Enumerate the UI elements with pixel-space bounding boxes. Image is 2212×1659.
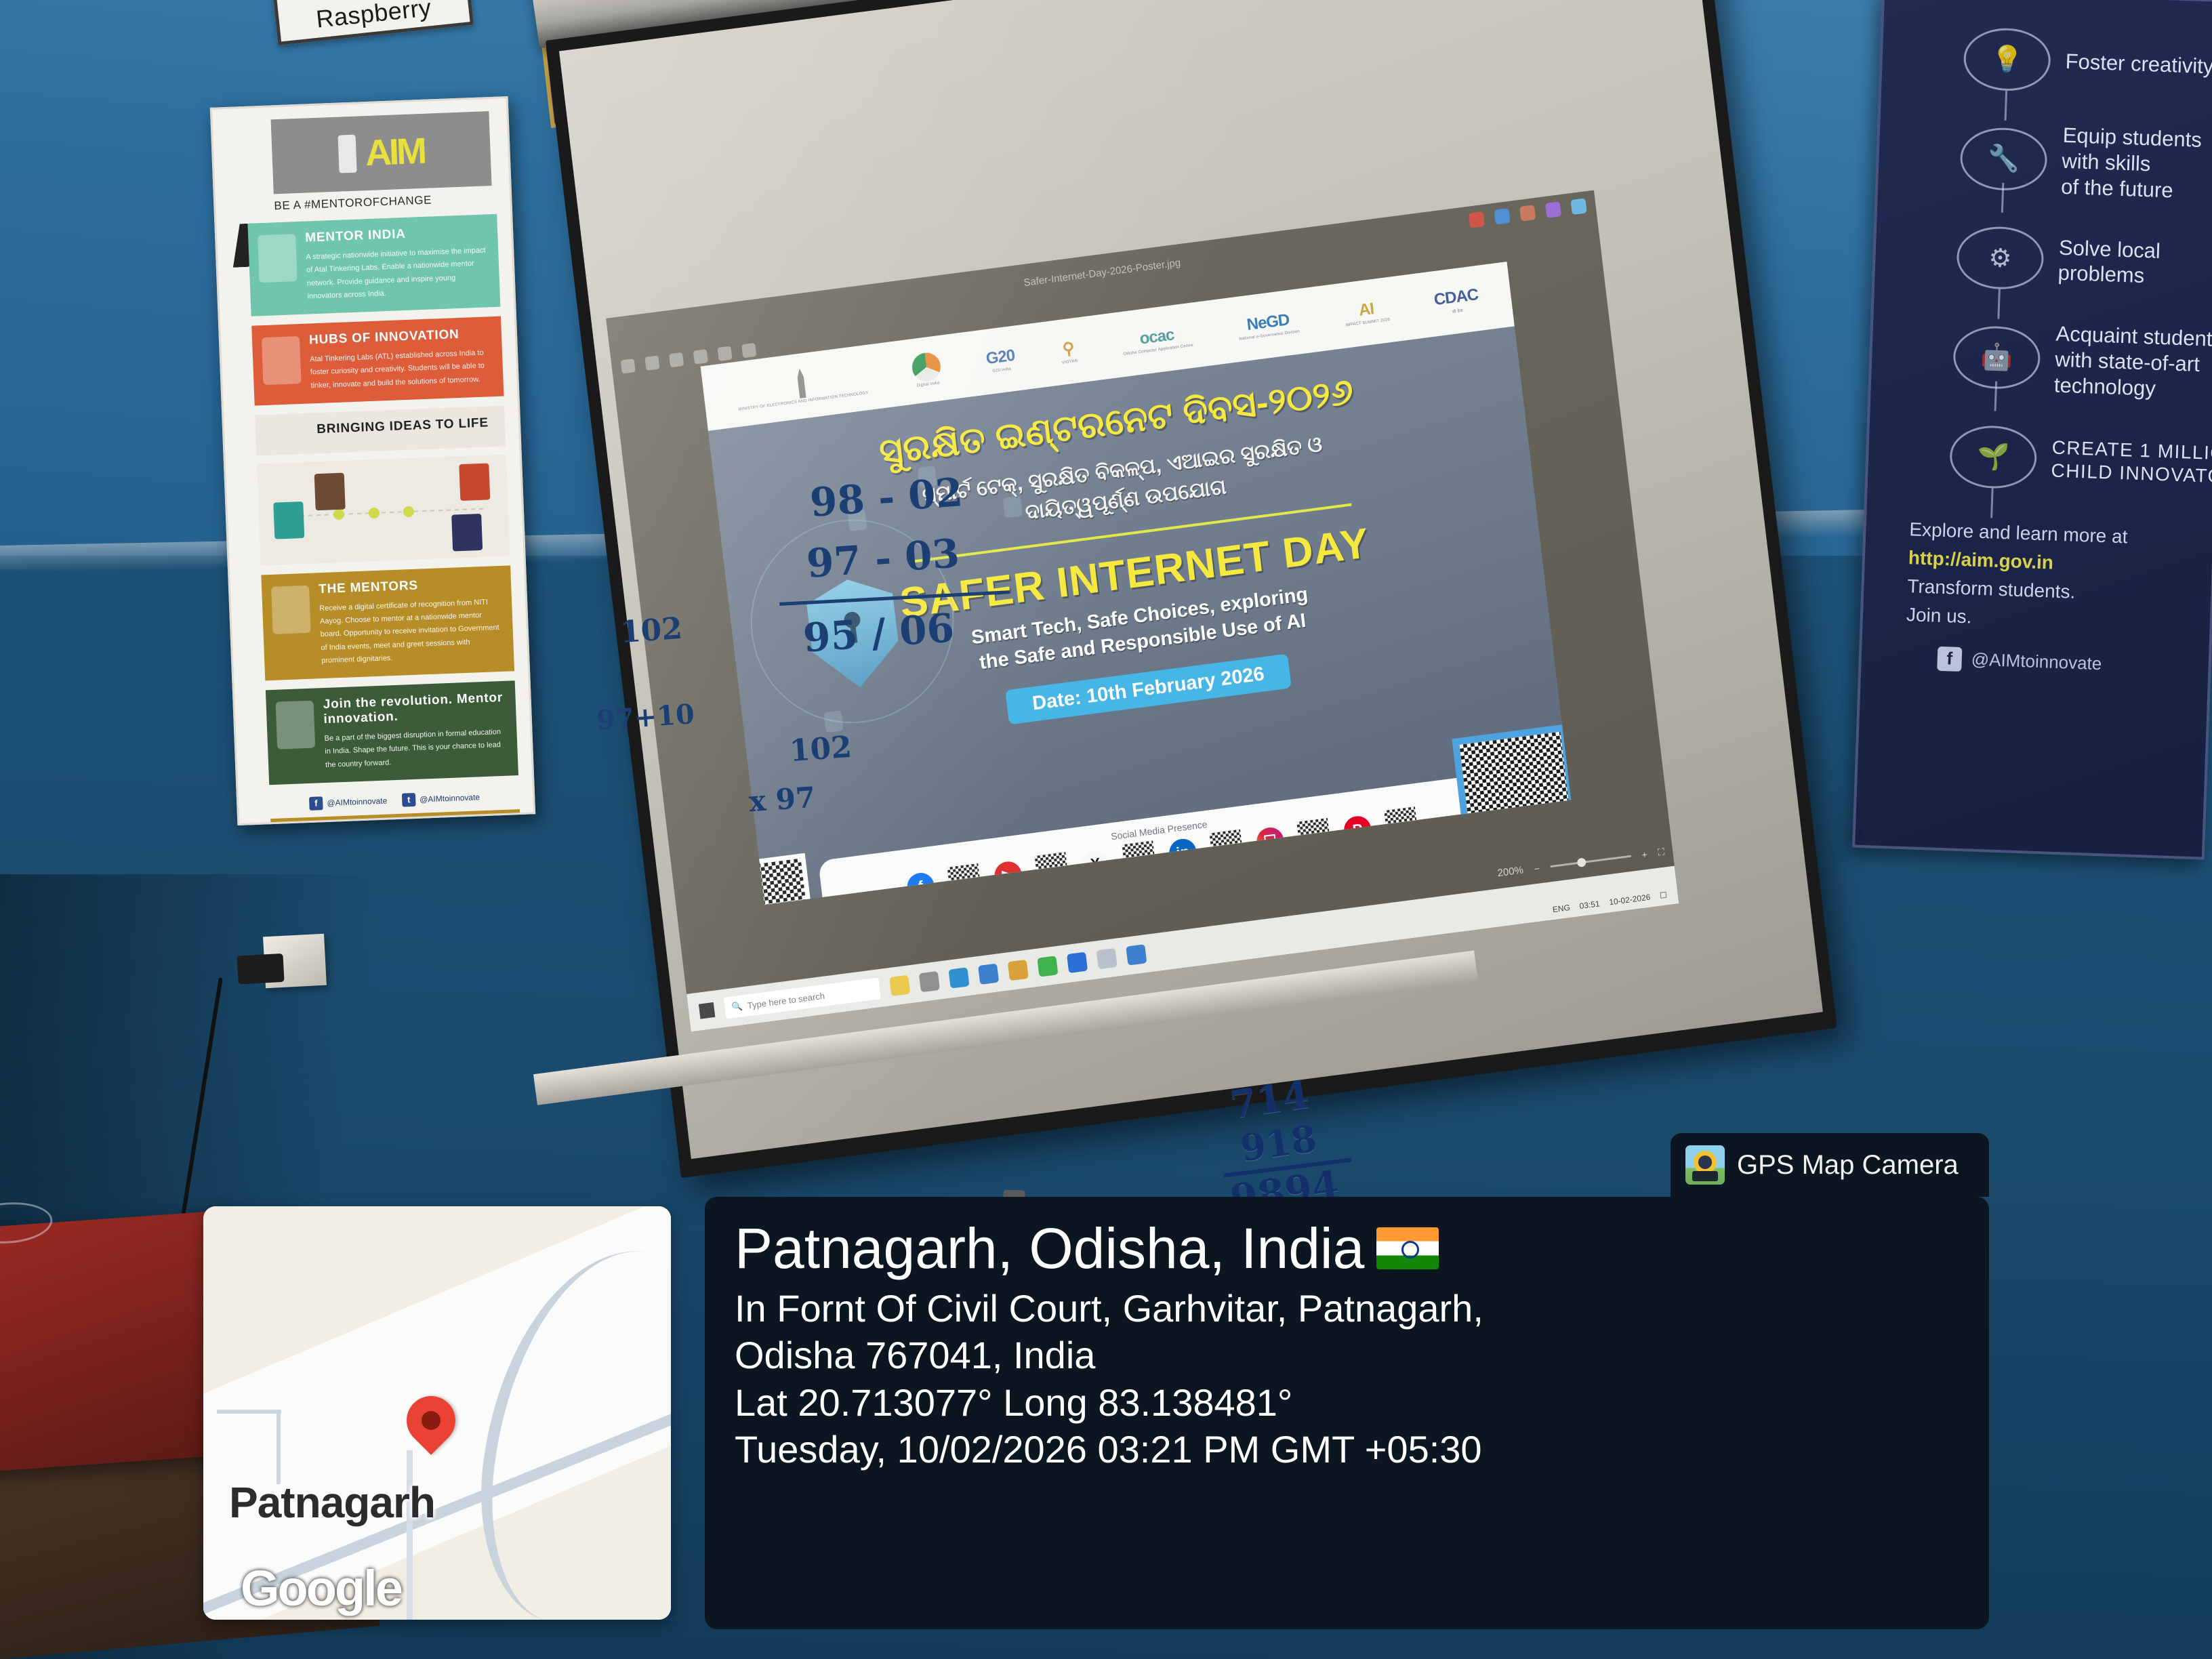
- section-title: MENTOR INDIA: [305, 224, 486, 245]
- facebook-icon: f: [309, 796, 323, 811]
- delete-icon[interactable]: [693, 349, 708, 364]
- people-icon: [276, 701, 316, 750]
- gps-location-title-text: Patnagarh, Odisha, India: [735, 1220, 1364, 1277]
- ocac-logo: ocac Odisha Computer Application Centre: [1121, 323, 1194, 356]
- gps-map-thumbnail[interactable]: Patnagarh Google: [203, 1206, 671, 1620]
- qr-code-youtube: [1034, 852, 1069, 887]
- projected-desktop: Safer-Internet-Day-2026-Poster.jpg: [606, 190, 1679, 1032]
- certificate-icon: [271, 585, 311, 634]
- share-icon[interactable]: [717, 346, 732, 361]
- section-title: THE MENTORS: [319, 575, 499, 597]
- poster-section-join: Join the revolution. Mentor innovation. …: [266, 680, 518, 785]
- tray-clock-time[interactable]: 03:51: [1579, 899, 1600, 911]
- gps-info-panel: Patnagarh, Odisha, India In Fornt Of Civ…: [705, 1197, 1989, 1629]
- google-logo: Google: [241, 1559, 401, 1617]
- idea-bulb-icon: [403, 506, 415, 517]
- aim-tagline: BE A #MENTOROFCHANGE: [274, 191, 493, 213]
- gps-address-line-2: Odisha 767041, India: [735, 1332, 1959, 1378]
- map-road-small: [276, 1410, 281, 1484]
- india-flag-icon: [1376, 1227, 1439, 1269]
- taskbar-app-browser[interactable]: [978, 964, 999, 985]
- taskbar-app-copilot[interactable]: [889, 975, 910, 996]
- section-body: A strategic nationwide initiative to max…: [306, 244, 488, 303]
- govt-emblem-logo: MINISTRY OF ELECTRONICS AND INFORMATION …: [735, 360, 869, 412]
- section-body: Atal Tinkering Labs (ATL) established ac…: [310, 346, 491, 392]
- search-placeholder: Type here to search: [747, 990, 825, 1010]
- facebook-icon[interactable]: f: [905, 872, 935, 902]
- qr-code-left: [740, 853, 813, 905]
- atl-objective-text: Foster creativity: [2065, 49, 2212, 79]
- sprout-icon: 🌱: [1949, 424, 2038, 489]
- photo-canvas: Raspberry I AM A AIM BE A #MENTOROFCHANG…: [0, 0, 2212, 1659]
- zoom-out-icon[interactable]: [644, 355, 659, 370]
- gps-timestamp: Tuesday, 10/02/2026 03:21 PM GMT +05:30: [735, 1426, 1959, 1473]
- innovation-hub-icon: [262, 336, 302, 385]
- taskbar-app-photos[interactable]: [1126, 944, 1147, 965]
- system-tray: ENG 03:51 10-02-2026 ☐: [1552, 890, 1667, 914]
- search-icon: 🔍: [731, 1000, 743, 1012]
- windows-start-icon[interactable]: [699, 1002, 715, 1019]
- atl-objectives-poster: 💡 Foster creativity 🔧 Equip students wit…: [1852, 0, 2212, 860]
- section-body: Be a part of the biggest disruption in f…: [324, 726, 506, 772]
- qr-code-pinterest: [1384, 806, 1418, 842]
- atl-objective-text: Solve local problems: [2057, 234, 2160, 289]
- rotate-icon[interactable]: [669, 352, 684, 367]
- twitter-handle: t @AIMtoinnovate: [402, 790, 480, 806]
- taskbar-app-taskview[interactable]: [919, 971, 940, 992]
- atl-social-handle: f @AIMtoinnovate: [1937, 647, 2209, 680]
- ai-impact-summit-logo: AI IMPACT SUMMIT 2026: [1343, 298, 1391, 327]
- app-icon-2[interactable]: [1494, 208, 1510, 225]
- map-road-small: [217, 1410, 281, 1414]
- qr-code-linkedin: [1209, 829, 1244, 865]
- atl-social-handle-label: @AIMtoinnovate: [1971, 649, 2102, 675]
- gps-map-camera-label: GPS Map Camera: [1737, 1150, 1959, 1181]
- lock-icon: [823, 710, 843, 733]
- atl-objective-text: Equip students with skills of the future: [2061, 123, 2203, 205]
- negd-logo: NeGD National e-Governance Division: [1237, 309, 1300, 341]
- gps-address-line-1: In Fornt Of Civil Court, Garhvitar, Patn…: [735, 1285, 1959, 1332]
- poster-section-ideas: BRINGING IDEAS TO LIFE: [255, 405, 506, 455]
- fit-to-window-icon[interactable]: ⛶: [1658, 846, 1666, 858]
- app-icon-4[interactable]: [1545, 201, 1561, 218]
- image-viewer-filename: Safer-Internet-Day-2026-Poster.jpg: [1023, 257, 1181, 289]
- handwriting-note: 102: [788, 730, 853, 769]
- aim-mentor-poster: AIM BE A #MENTOROFCHANGE MENTOR INDIA A …: [210, 96, 535, 825]
- gear-icon: [451, 514, 483, 552]
- qr-code-instagram: [1296, 818, 1331, 853]
- poster-section-mentor-india: MENTOR INDIA A strategic nationwide init…: [247, 214, 500, 316]
- youtube-icon[interactable]: ▶: [993, 860, 1023, 890]
- facebook-icon: f: [1937, 647, 1962, 672]
- window-controls[interactable]: [1469, 198, 1587, 228]
- robot-arm-icon: [273, 501, 304, 539]
- more-icon[interactable]: [741, 343, 756, 358]
- x-twitter-icon[interactable]: X: [1080, 848, 1110, 879]
- taskbar-app-chrome[interactable]: [1037, 956, 1058, 977]
- handwriting-note: 97+10: [596, 698, 696, 737]
- aim-poster-header: AIM: [271, 111, 492, 194]
- niti-aayog-mark-icon: [337, 135, 356, 173]
- facebook-handle: f @AIMtoinnovate: [309, 794, 388, 810]
- zoom-level-label: 200%: [1497, 864, 1524, 879]
- cdac-logo: CDAC सी डैक: [1433, 285, 1479, 316]
- handwriting-note: 102: [619, 611, 683, 650]
- facebook-handle-label: @AIMtoinnovate: [327, 796, 387, 807]
- atl-objective-text: Acquaint students with state-of-art tech…: [2053, 321, 2212, 404]
- tray-lang-label[interactable]: ENG: [1552, 903, 1570, 914]
- map-road-vertical: [407, 1450, 413, 1620]
- robot-icon: 🤖: [1952, 325, 2041, 390]
- instagram-icon[interactable]: ☐: [1255, 826, 1285, 857]
- idea-bulb-icon: [369, 507, 380, 518]
- zoom-slider[interactable]: [1550, 855, 1631, 867]
- taskbar-app-explorer[interactable]: [1008, 960, 1029, 981]
- section-body: Receive a digital certificate of recogni…: [319, 596, 501, 668]
- workbench-icon: 🔧: [1959, 126, 2048, 191]
- map-place-label: Patnagarh: [229, 1477, 435, 1528]
- atl-objective-row: 🔧 Equip students with skills of the futu…: [1959, 119, 2212, 205]
- taskbar-app-word[interactable]: [1067, 952, 1088, 973]
- wall-socket[interactable]: [263, 934, 327, 989]
- tray-clock-date[interactable]: 10-02-2026: [1609, 893, 1652, 907]
- ideas-illustration: [257, 454, 510, 565]
- twitter-handle-label: @AIMtoinnovate: [419, 792, 480, 804]
- atl-poster-footer: Explore and learn more at http://aim.gov…: [1906, 515, 2212, 640]
- lightbulb-icon: 💡: [1963, 27, 2051, 92]
- poster-section-hubs: HUBS OF INNOVATION Atal Tinkering Labs (…: [251, 316, 504, 406]
- notification-icon[interactable]: ☐: [1659, 890, 1667, 900]
- qr-code-x: [1122, 840, 1156, 876]
- taskbar-search-input[interactable]: 🔍 Type here to search: [724, 977, 881, 1019]
- handwriting-note: x 97: [747, 781, 816, 819]
- gps-map-camera-badge: GPS Map Camera: [1671, 1133, 1989, 1197]
- gps-location-title: Patnagarh, Odisha, India: [735, 1220, 1959, 1277]
- power-adapter-plug: [237, 954, 284, 985]
- phone-icon: [1003, 495, 1023, 518]
- twitter-icon: t: [402, 793, 416, 807]
- social-media-caption: Social Media Presence: [819, 781, 1499, 880]
- linkedin-icon[interactable]: in: [1168, 837, 1197, 867]
- idea-bulb-icon: [333, 508, 345, 520]
- app-icon-1[interactable]: [1469, 211, 1485, 228]
- taskbar-app-edge[interactable]: [948, 967, 969, 988]
- vigyan-logo: ⚲ VIGYAN: [1059, 338, 1078, 365]
- atl-objective-row: 🤖 Acquaint students with state-of-art te…: [1952, 318, 2212, 404]
- mentor-icon: [258, 234, 298, 283]
- digital-india-logo: Digital India: [910, 351, 943, 388]
- atl-objective-row: 💡 Foster creativity: [1963, 27, 2212, 99]
- gps-map-camera-icon: [1685, 1145, 1725, 1185]
- drone-icon: [459, 463, 490, 501]
- atl-objective-row: ⚙ Solve local problems: [1956, 226, 2212, 298]
- qr-code-main: [1452, 724, 1571, 865]
- atl-objective-text: CREATE 1 MILLION CHILD INNOVATORS: [2051, 436, 2212, 489]
- projector-screen-surface: Safer-Internet-Day-2026-Poster.jpg: [559, 0, 1823, 1159]
- zoom-out-icon[interactable]: −: [1534, 863, 1540, 874]
- section-title: HUBS OF INNOVATION: [309, 326, 490, 348]
- pinterest-icon[interactable]: P: [1343, 815, 1372, 845]
- section-title: Join the revolution. Mentor innovation.: [323, 691, 504, 727]
- zoom-in-icon[interactable]: [621, 359, 636, 373]
- section-title: BRINGING IDEAS TO LIFE: [312, 415, 493, 437]
- qr-code-facebook: [947, 863, 982, 899]
- app-icon-3[interactable]: [1519, 205, 1536, 222]
- poster-section-the-mentors: THE MENTORS Receive a digital certificat…: [261, 565, 514, 680]
- taskbar-app-aero[interactable]: [1097, 948, 1118, 969]
- raspberry-sign-label: Raspberry: [314, 0, 432, 34]
- g20-logo: G20 G20 India: [985, 346, 1016, 374]
- social-icon-row: f ▶ X in ☐ P: [821, 796, 1503, 905]
- atl-objective-row: 🌱 CREATE 1 MILLION CHILD INNOVATORS: [1949, 424, 2212, 496]
- close-icon[interactable]: [1570, 198, 1586, 215]
- gps-coordinates: Lat 20.713077° Long 83.138481°: [735, 1379, 1959, 1426]
- social-media-bar: Social Media Presence f ▶ X in ☐: [818, 773, 1507, 905]
- aim-logo: AIM: [365, 130, 425, 174]
- zoom-in-icon[interactable]: +: [1641, 848, 1648, 860]
- gears-icon: ⚙: [1956, 226, 2045, 291]
- tool-icon: [314, 472, 346, 510]
